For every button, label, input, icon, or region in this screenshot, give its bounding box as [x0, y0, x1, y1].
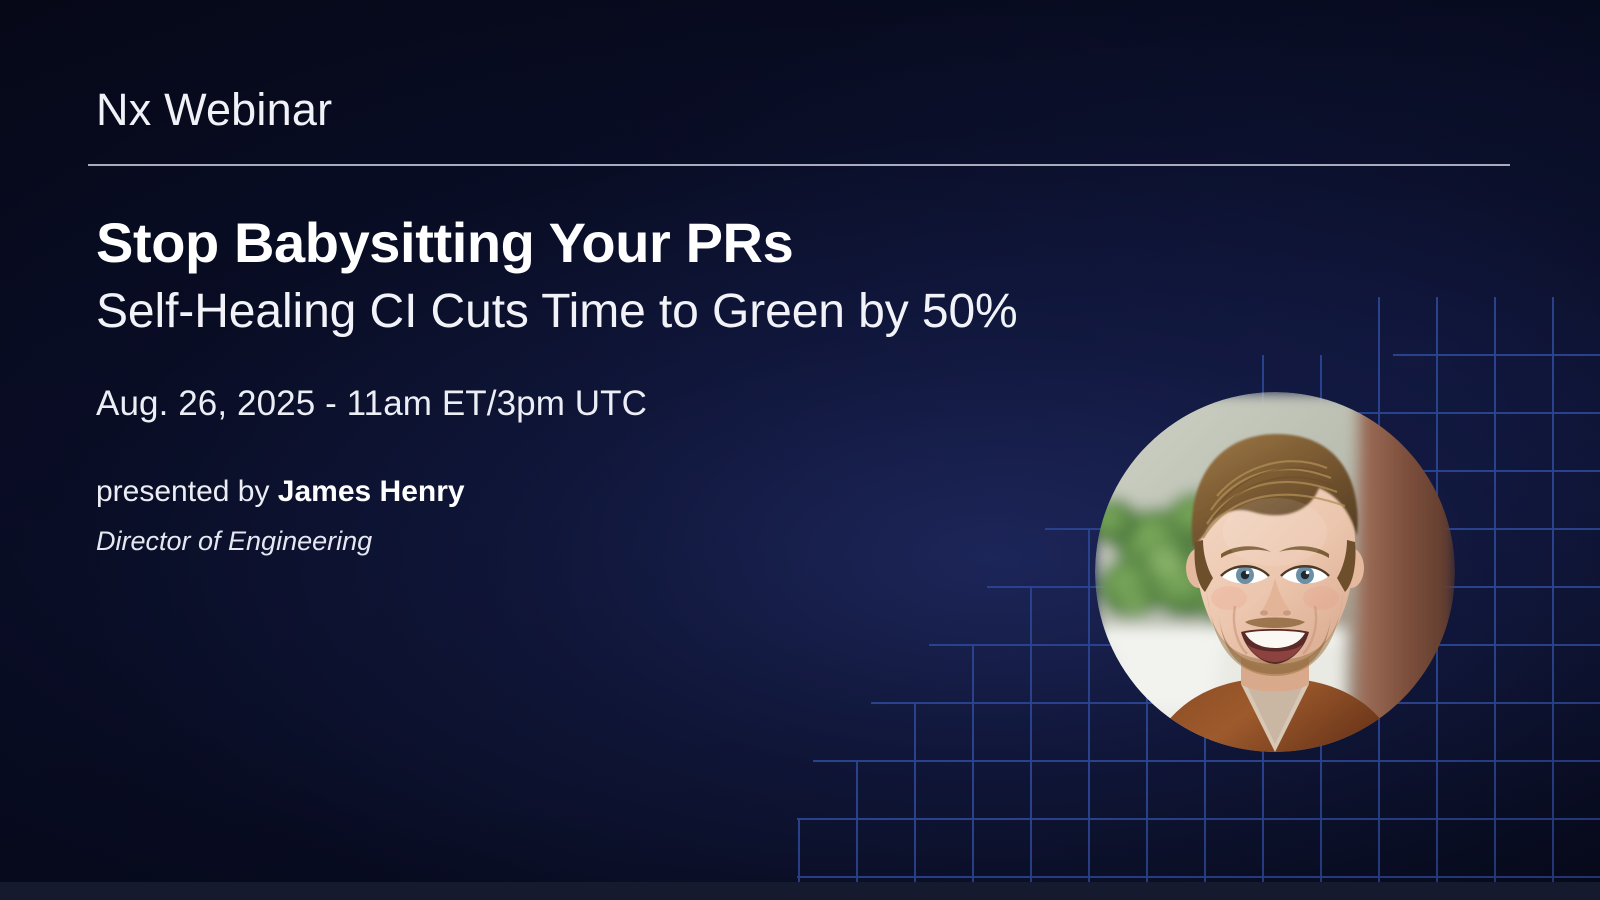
- series-label: Nx Webinar: [96, 0, 1196, 134]
- footer-bar: [0, 882, 1600, 900]
- webinar-promo-card: Nx Webinar Stop Babysitting Your PRs Sel…: [0, 0, 1600, 900]
- webinar-datetime: Aug. 26, 2025 - 11am ET/3pm UTC: [96, 339, 1196, 424]
- webinar-title: Stop Babysitting Your PRs: [96, 166, 1196, 273]
- content-column: Nx Webinar Stop Babysitting Your PRs Sel…: [96, 0, 1196, 557]
- speaker-role: Director of Engineering: [96, 509, 1196, 557]
- presented-by-label: presented by: [96, 475, 269, 508]
- webinar-subtitle: Self-Healing CI Cuts Time to Green by 50…: [96, 272, 1096, 339]
- presenter-line: presented by James Henry: [96, 424, 1196, 510]
- speaker-name: James Henry: [278, 475, 465, 508]
